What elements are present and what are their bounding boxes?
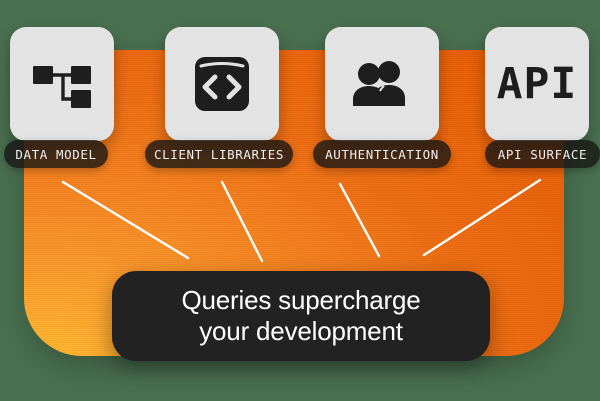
hierarchy-icon xyxy=(33,58,91,110)
label-pill-data-model-text: DATA MODEL xyxy=(15,147,96,162)
users-icon xyxy=(351,60,413,108)
callout-line-2: your development xyxy=(199,316,402,347)
callout-panel: Queries supercharge your development xyxy=(112,271,490,361)
label-pill-api-surface[interactable]: API SURFACE xyxy=(485,140,600,168)
label-pill-data-model[interactable]: DATA MODEL xyxy=(4,140,108,168)
api-wordmark: API xyxy=(497,63,578,106)
feature-card-data-model[interactable] xyxy=(10,27,114,141)
label-pill-authentication-text: AUTHENTICATION xyxy=(325,147,439,162)
label-pill-api-surface-text: API SURFACE xyxy=(498,147,587,162)
label-pill-client-libraries[interactable]: CLIENT LIBRARIES xyxy=(145,140,293,168)
callout-line-1: Queries supercharge xyxy=(182,285,421,316)
feature-card-client-libraries[interactable] xyxy=(165,27,279,141)
label-pill-client-libraries-text: CLIENT LIBRARIES xyxy=(154,147,284,162)
code-book-icon xyxy=(193,55,251,113)
diagram-canvas: API DATA MODEL CLIENT LIBRARIES AUTHENTI… xyxy=(0,0,600,401)
feature-card-authentication[interactable] xyxy=(325,27,439,141)
feature-card-api-surface[interactable]: API xyxy=(485,27,589,141)
label-pill-authentication[interactable]: AUTHENTICATION xyxy=(313,140,451,168)
